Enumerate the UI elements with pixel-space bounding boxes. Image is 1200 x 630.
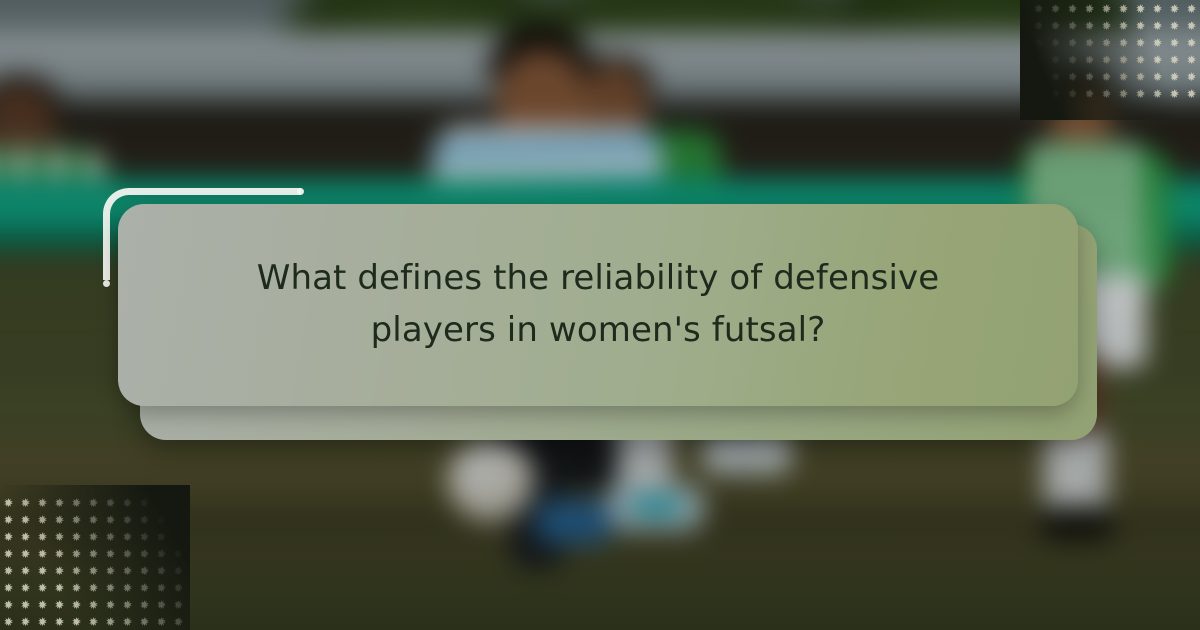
poster-canvas: What defines the reliability of defensiv… [0,0,1200,630]
question-text: What defines the reliability of defensiv… [192,253,1004,356]
star-grid-bottom-left-fade [0,485,190,630]
question-card: What defines the reliability of defensiv… [118,204,1078,406]
star-grid-top-right-fade [1020,0,1200,120]
